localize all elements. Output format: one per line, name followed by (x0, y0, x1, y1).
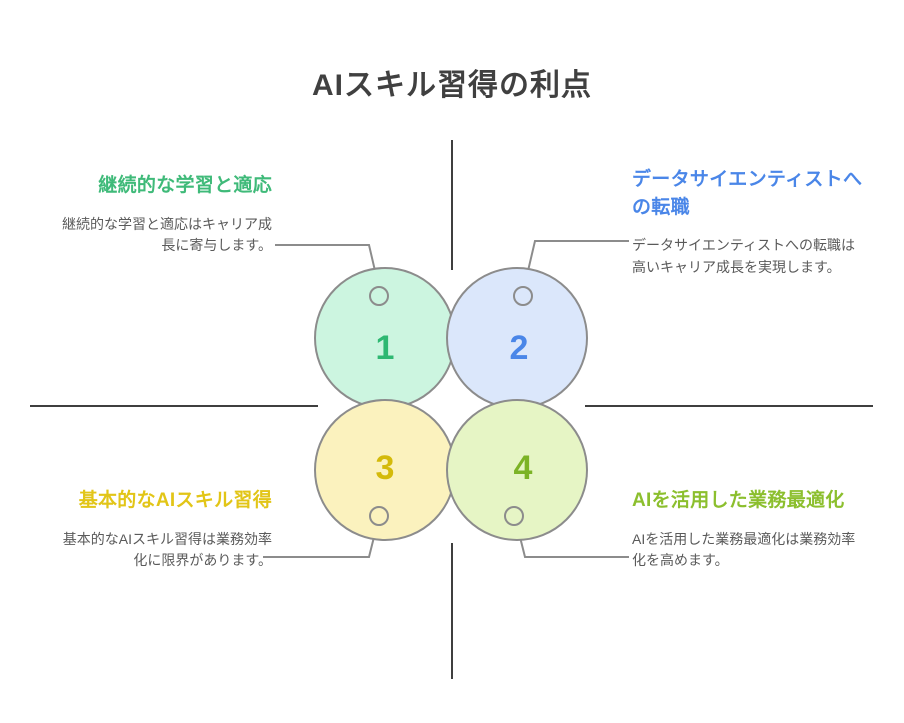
quadrant-2-body: データサイエンティストへの転職は高いキャリア成長を実現します。 (632, 235, 872, 278)
quadrant-bottom-right: AIを活用した業務最適化 AIを活用した業務最適化は業務効率化を高めます。 (632, 487, 872, 572)
infographic-canvas: AIスキル習得の利点 1 2 3 4 継続的な学習と適応 (0, 0, 904, 723)
venn-number-2: 2 (510, 329, 529, 367)
quadrant-4-body: AIを活用した業務最適化は業務効率化を高めます。 (632, 529, 872, 572)
venn-number-4: 4 (514, 449, 533, 487)
quadrant-top-right: データサイエンティストへの転職 データサイエンティストへの転職は高いキャリア成長… (632, 166, 872, 278)
venn-diagram: 1 2 3 4 (0, 0, 904, 723)
venn-number-1: 1 (376, 329, 395, 367)
quadrant-2-heading: データサイエンティストへの転職 (632, 166, 872, 221)
quadrant-1-body: 継続的な学習と適応はキャリア成長に寄与します。 (32, 214, 272, 257)
quadrant-4-heading: AIを活用した業務最適化 (632, 487, 872, 515)
venn-number-3: 3 (376, 449, 395, 487)
quadrant-3-body: 基本的なAIスキル習得は業務効率化に限界があります。 (32, 529, 272, 572)
quadrant-1-heading: 継続的な学習と適応 (32, 172, 272, 200)
quadrant-top-left: 継続的な学習と適応 継続的な学習と適応はキャリア成長に寄与します。 (32, 172, 272, 257)
quadrant-bottom-left: 基本的なAIスキル習得 基本的なAIスキル習得は業務効率化に限界があります。 (32, 487, 272, 572)
quadrant-3-heading: 基本的なAIスキル習得 (32, 487, 272, 515)
